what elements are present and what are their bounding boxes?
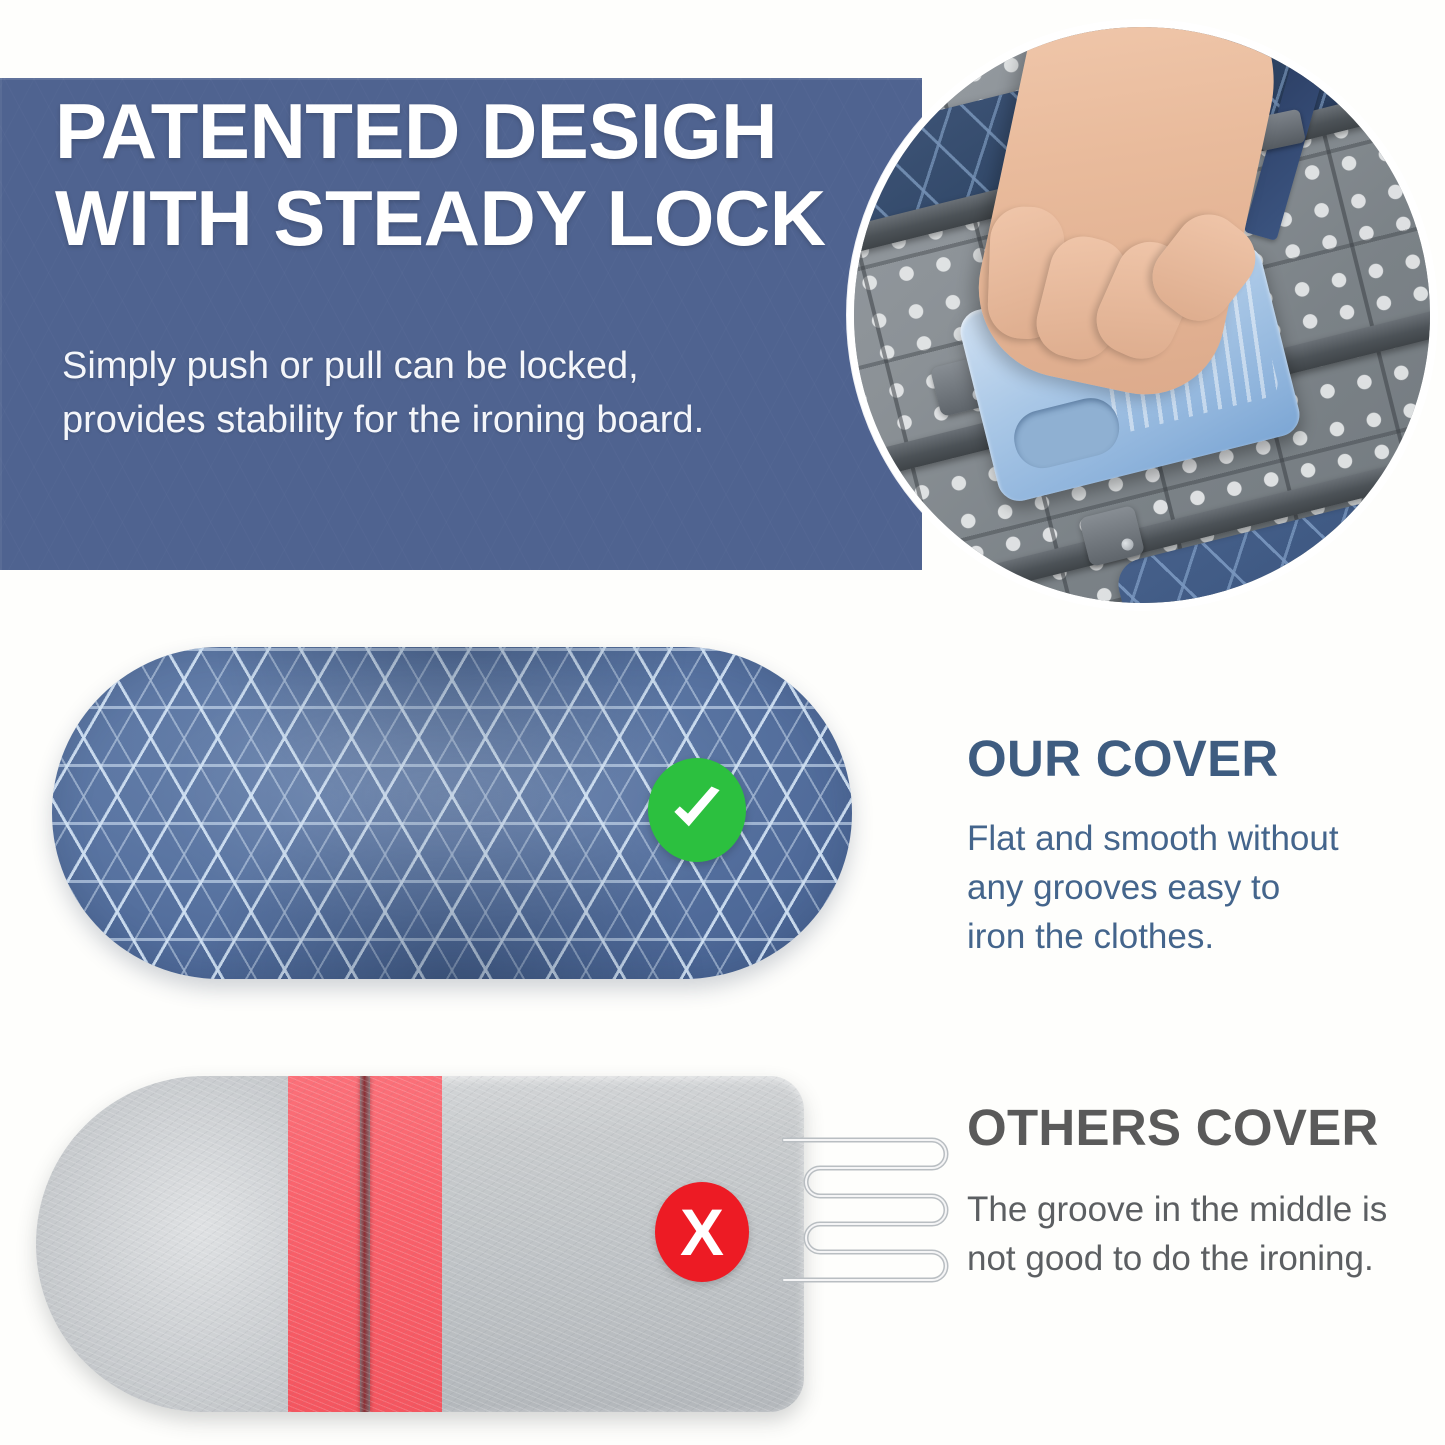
hero-subtitle: Simply push or pull can be locked, provi… (62, 340, 822, 448)
cross-badge-icon: X (655, 1182, 749, 1282)
our-cover-heading: OUR COVER (967, 733, 1427, 784)
others-cover-text-block: OTHERS COVER The groove in the middle is… (967, 1102, 1437, 1283)
check-badge-icon (648, 758, 746, 862)
hero-title: PATENTED DESIGH WITH STEADY LOCK (55, 88, 845, 263)
lock-grip-hole (1008, 392, 1125, 474)
our-cover-description: Flat and smooth without any grooves easy… (967, 814, 1427, 961)
steady-lock-photo (854, 27, 1430, 603)
others-cover-heading: OTHERS COVER (967, 1102, 1437, 1153)
screw-icon (1121, 537, 1136, 552)
our-cover-text-block: OUR COVER Flat and smooth without any gr… (967, 733, 1427, 961)
wire-iron-rest (782, 1128, 962, 1340)
infographic-page: PATENTED DESIGH WITH STEADY LOCK Simply … (0, 0, 1445, 1445)
others-cover-description: The groove in the middle is not good to … (967, 1185, 1437, 1283)
steady-lock-photo-circle (847, 20, 1437, 610)
